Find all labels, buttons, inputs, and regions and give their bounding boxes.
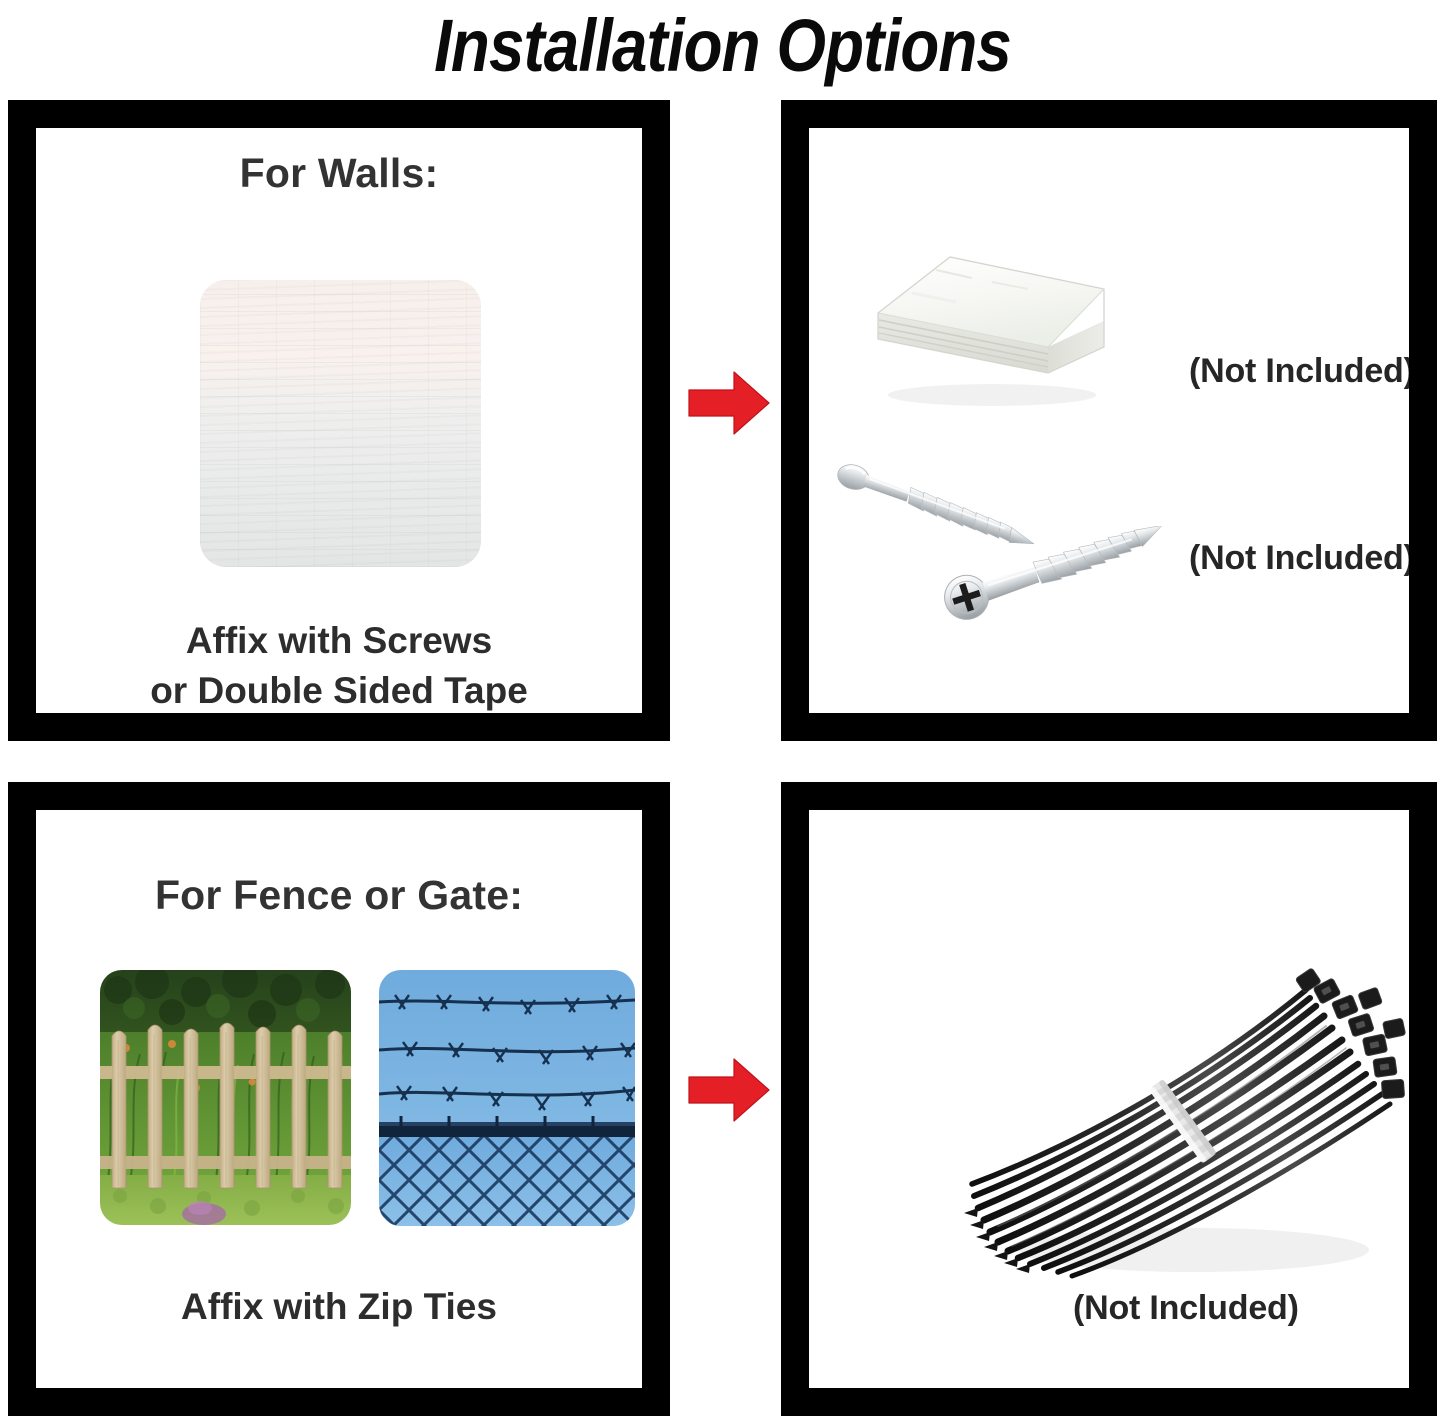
phillips-wood-screw-icon	[937, 526, 1185, 630]
walls-caption-line-2: or Double Sided Tape	[36, 666, 642, 713]
panel-wall-hardware-inner: (Not Included)	[809, 128, 1409, 713]
black-zip-tie-bundle-icon	[954, 920, 1409, 1305]
page-title: Installation Options	[101, 2, 1344, 90]
panel-for-fence-or-gate: For Fence or Gate:	[8, 782, 670, 1416]
chain-link-fence-with-barbed-wire-photo	[379, 970, 635, 1226]
for-walls-heading: For Walls:	[36, 150, 642, 197]
walls-caption-line-1: Affix with Screws	[36, 616, 642, 666]
fence-caption: Affix with Zip Ties	[36, 1282, 642, 1332]
zip-ties-not-included-label: (Not Included)	[1073, 1289, 1299, 1328]
panel-wall-hardware: (Not Included)	[781, 100, 1437, 741]
wooden-picket-fence-photo	[100, 970, 351, 1225]
red-right-arrow-icon-top	[687, 369, 771, 437]
panel-for-walls: For Walls: Affix with Screws or Double S…	[8, 100, 670, 741]
panel-fence-hardware: (Not Included)	[781, 782, 1437, 1416]
tape-not-included-label: (Not Included)	[1189, 352, 1409, 391]
screws-not-included-label: (Not Included)	[1189, 539, 1409, 578]
double-sided-tape-stack-icon	[852, 243, 1114, 413]
panel-for-walls-inner: For Walls: Affix with Screws or Double S…	[36, 128, 642, 713]
red-right-arrow-icon-bottom	[687, 1056, 771, 1124]
white-brick-wall-texture-icon	[200, 280, 481, 567]
panel-fence-hardware-inner: (Not Included)	[809, 810, 1409, 1388]
infographic-root: Installation Options For Walls: Affix wi…	[0, 0, 1445, 1422]
panel-for-fence-inner: For Fence or Gate:	[36, 810, 642, 1388]
for-fence-heading: For Fence or Gate:	[36, 872, 642, 919]
